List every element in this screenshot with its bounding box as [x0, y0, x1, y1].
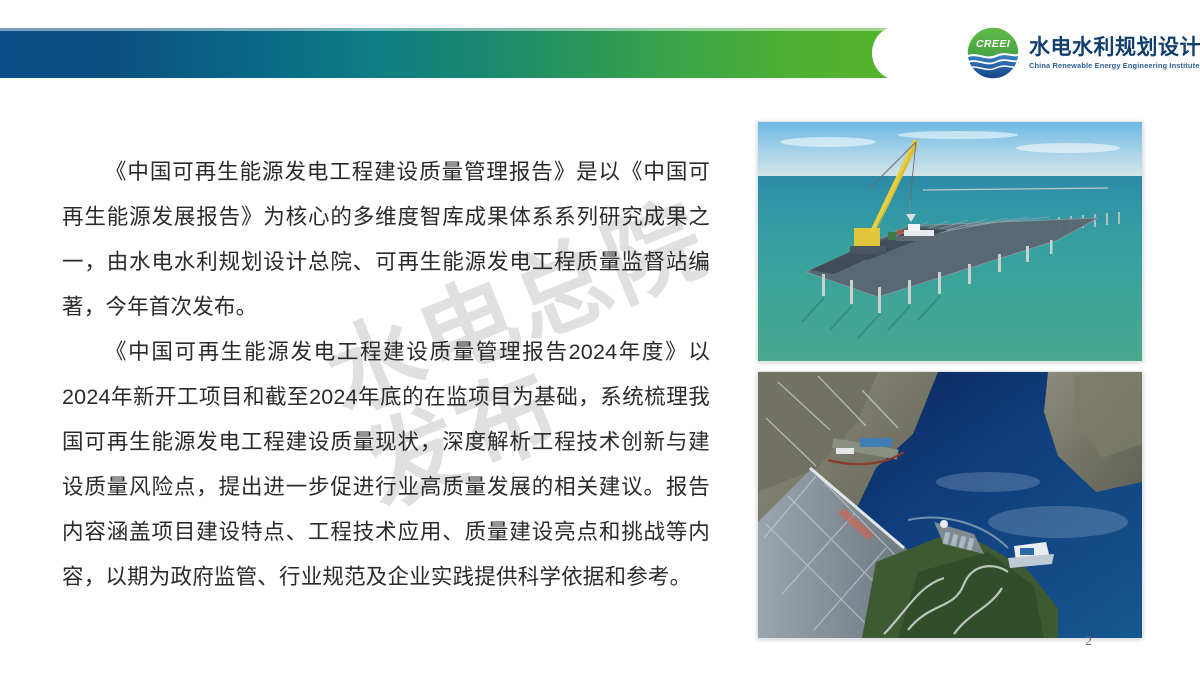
- body-text-block: 《中国可再生能源发电工程建设质量管理报告》是以《中国可再生能源发展报告》为核心的…: [62, 150, 710, 600]
- logo-text-block: 水电水利规划设计总院 China Renewable Energy Engine…: [1029, 37, 1200, 69]
- logo-name-en: China Renewable Energy Engineering Insti…: [1029, 62, 1200, 69]
- paragraph-2: 《中国可再生能源发电工程建设质量管理报告2024年度》以2024年新开工项目和截…: [62, 330, 710, 600]
- hydropower-dam-aerial-photo: [757, 371, 1143, 639]
- header-gradient-band: [0, 28, 898, 78]
- slide-canvas: CREEI 水电水利规划设计总院 China Renewable Energy …: [0, 0, 1200, 675]
- creei-logo-icon: CREEI: [966, 26, 1020, 80]
- logo-name-cn: 水电水利规划设计总院: [1029, 37, 1200, 58]
- offshore-solar-construction-photo: [757, 121, 1143, 362]
- svg-text:CREEI: CREEI: [976, 38, 1011, 50]
- page-number: 2: [1085, 634, 1092, 650]
- paragraph-1: 《中国可再生能源发电工程建设质量管理报告》是以《中国可再生能源发展报告》为核心的…: [62, 150, 710, 330]
- institute-logo: CREEI 水电水利规划设计总院 China Renewable Energy …: [966, 26, 1200, 80]
